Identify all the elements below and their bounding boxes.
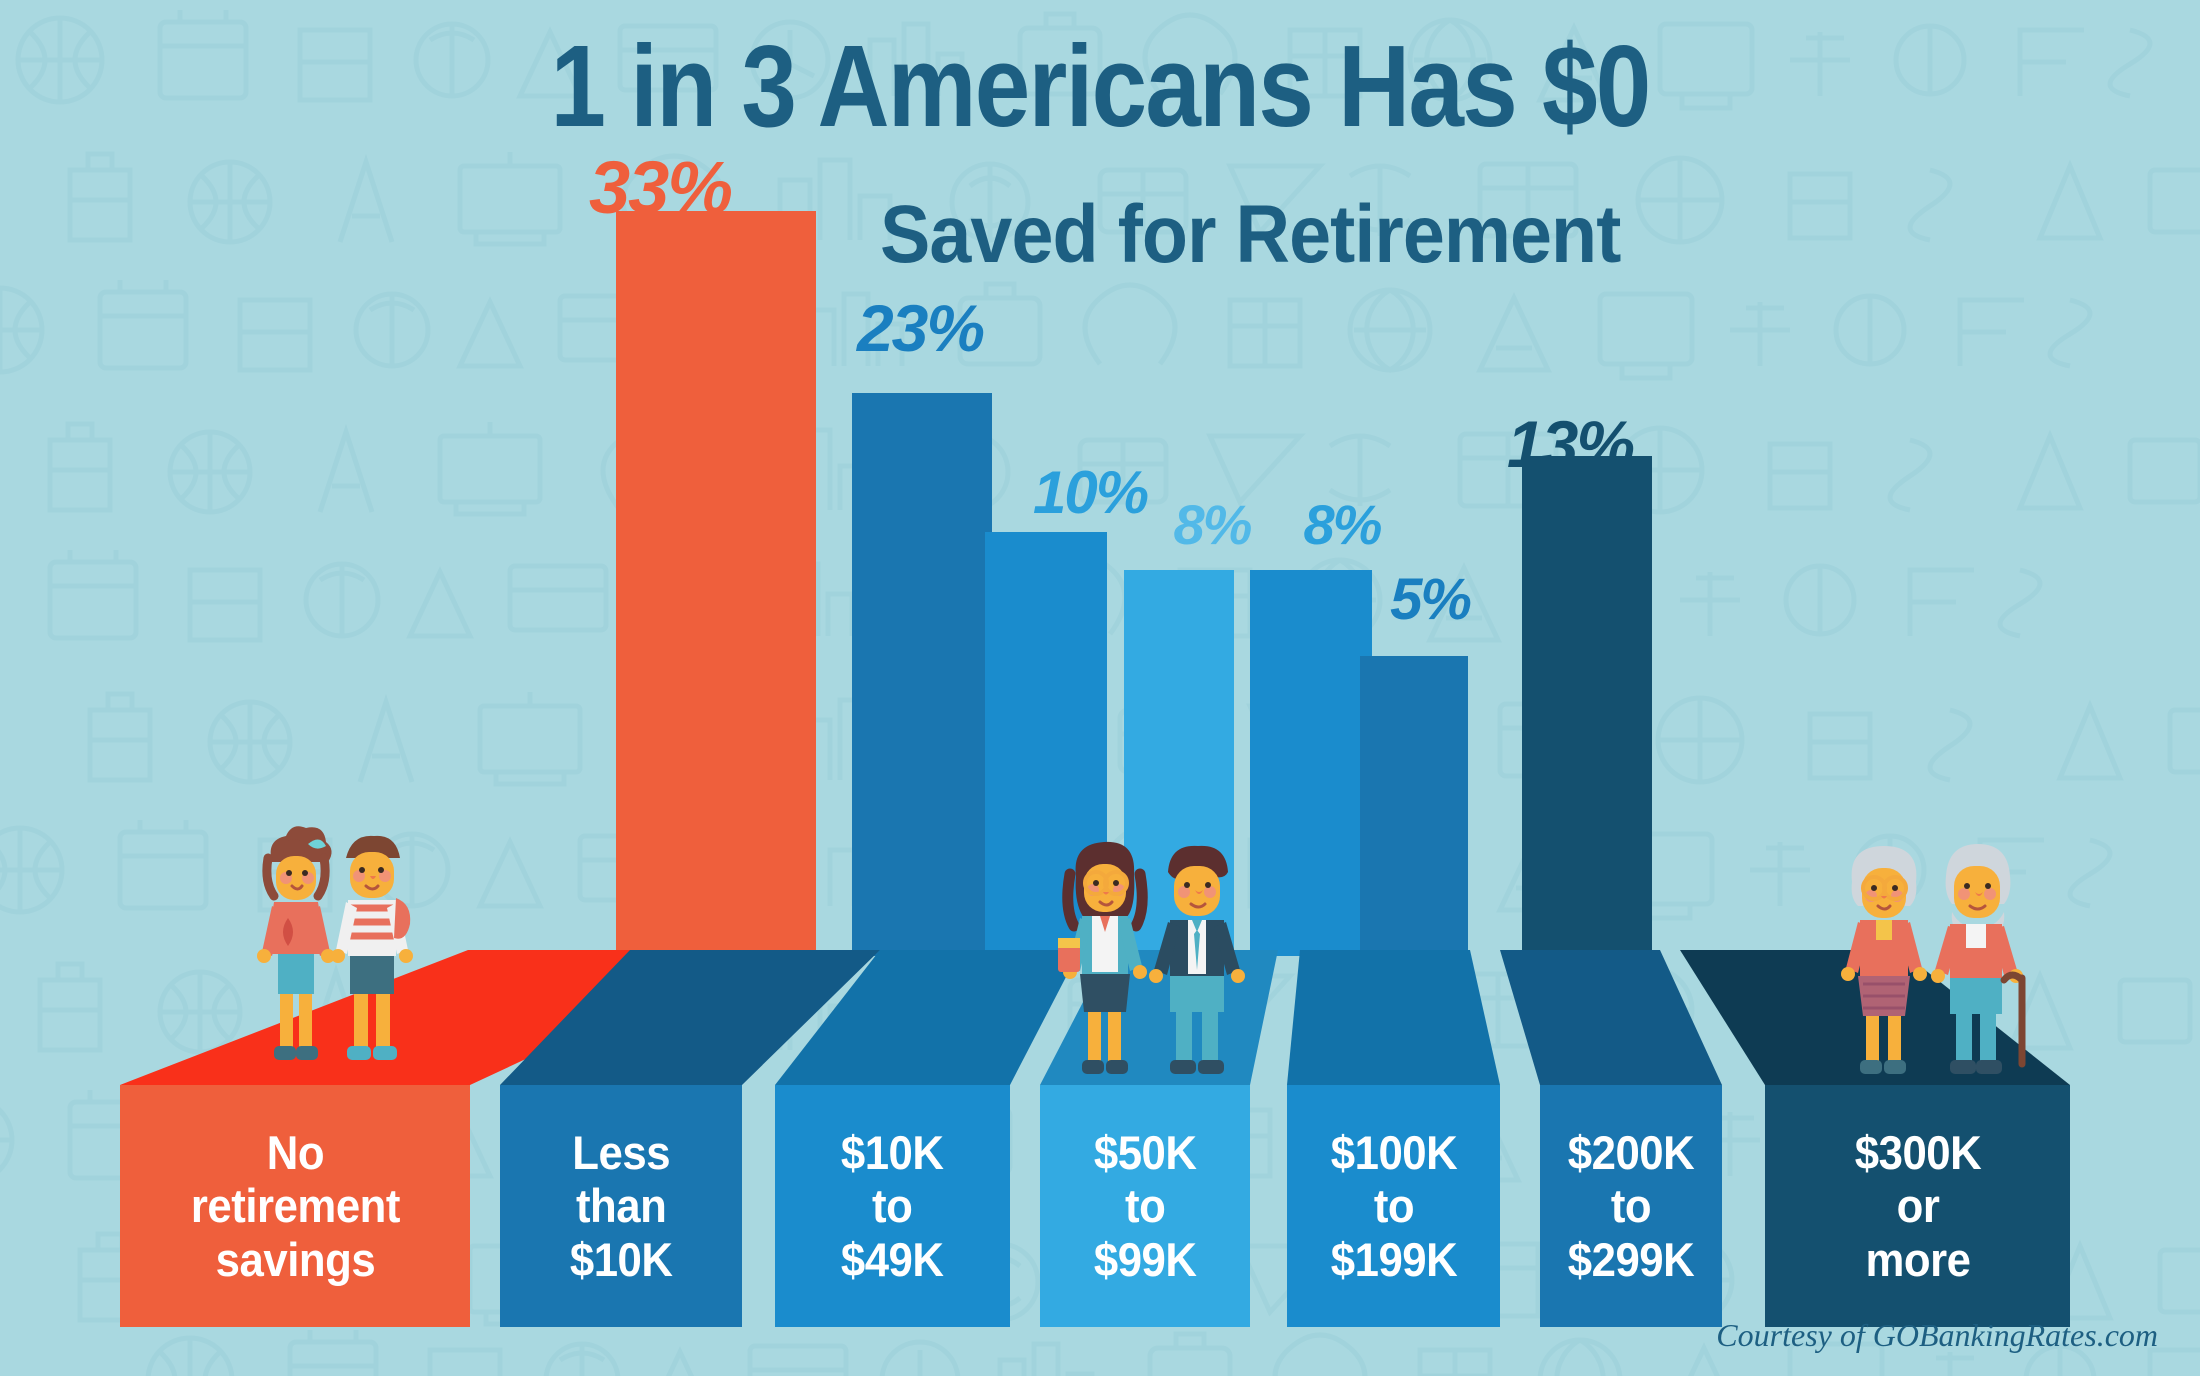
podium-label-2: $10K to $49K (841, 1126, 944, 1287)
podium-1: Less than $10K (500, 1085, 742, 1327)
podium-6: $300K or more (1765, 1085, 2070, 1327)
young-man-figure (331, 836, 413, 1060)
podium-label-5-line-2: $299K (1568, 1233, 1694, 1287)
podium-label-3: $50K to $99K (1094, 1126, 1197, 1287)
podium-label-5-line-1: to (1568, 1179, 1694, 1233)
podium-label-5-line-0: $200K (1568, 1126, 1694, 1180)
podium-4: $100K to $199K (1287, 1085, 1500, 1327)
podium-5: $200K to $299K (1540, 1085, 1722, 1327)
podium-label-6: $300K or more (1854, 1126, 1980, 1287)
podium-label-0-line-1: retirement (190, 1179, 399, 1233)
podium-label-2-line-0: $10K (841, 1126, 944, 1180)
podium-label-4-line-1: to (1330, 1179, 1456, 1233)
businesswoman-figure (1058, 842, 1147, 1074)
podium-label-0-line-0: No (190, 1126, 399, 1180)
podium-label-1: Less than $10K (570, 1126, 673, 1287)
podium-2: $10K to $49K (775, 1085, 1010, 1327)
podium-label-6-line-0: $300K (1854, 1126, 1980, 1180)
elderly-woman-figure (1841, 846, 1927, 1074)
podium-label-2-line-1: to (841, 1179, 944, 1233)
podium-0: No retirement savings (120, 1085, 470, 1327)
podium-label-1-line-2: $10K (570, 1233, 673, 1287)
elderly-man-figure (1931, 844, 2023, 1074)
podium-label-3-line-0: $50K (1094, 1126, 1197, 1180)
podium-label-3-line-1: to (1094, 1179, 1197, 1233)
bar-chart: 33% 23% 10% 8% 8% 5% 13% (0, 0, 2200, 1376)
podium-label-1-line-1: than (570, 1179, 673, 1233)
podium-label-3-line-2: $99K (1094, 1233, 1197, 1287)
podium-label-6-line-1: or (1854, 1179, 1980, 1233)
podium-3: $50K to $99K (1040, 1085, 1250, 1327)
podium-label-4-line-2: $199K (1330, 1233, 1456, 1287)
young-woman-figure (257, 826, 335, 1060)
illustration-young-couple (228, 818, 458, 1088)
podium-label-0-line-2: savings (190, 1233, 399, 1287)
infographic-canvas: 1 in 3 Americans Has $0 Saved for Retire… (0, 0, 2200, 1376)
credit-text: Courtesy of GOBankingRates.com (1716, 1317, 2158, 1354)
podium-label-6-line-2: more (1854, 1233, 1980, 1287)
podium-label-4-line-0: $100K (1330, 1126, 1456, 1180)
illustration-professional-couple (1040, 830, 1290, 1090)
businessman-figure (1149, 846, 1245, 1074)
illustration-senior-couple (1820, 828, 2070, 1090)
podium-label-4: $100K to $199K (1330, 1126, 1456, 1287)
podium-label-5: $200K to $299K (1568, 1126, 1694, 1287)
podium-label-0: No retirement savings (190, 1126, 399, 1287)
podium-label-2-line-2: $49K (841, 1233, 944, 1287)
podium-label-1-line-0: Less (570, 1126, 673, 1180)
